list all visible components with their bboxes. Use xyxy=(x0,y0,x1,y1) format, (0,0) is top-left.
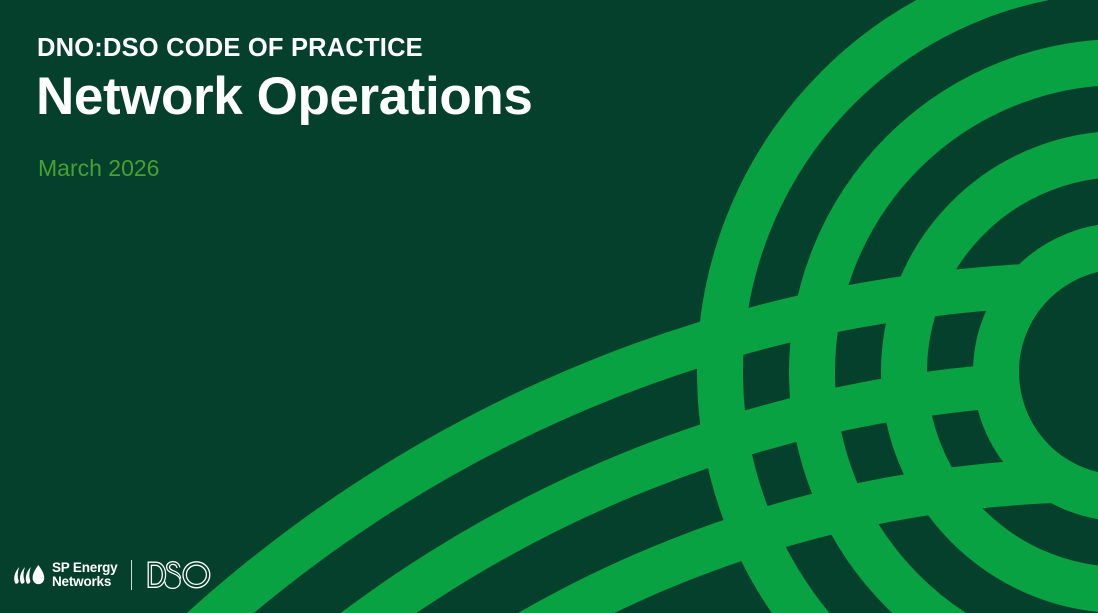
logo-divider xyxy=(131,560,132,590)
spen-wordmark-line-2: Networks xyxy=(52,575,117,589)
date-label: March 2026 xyxy=(38,155,159,183)
text-layer: DNO:DSO CODE OF PRACTICE Network Operati… xyxy=(0,0,1098,613)
dso-logo xyxy=(146,559,212,591)
sp-energy-networks-wordmark: SP Energy Networks xyxy=(52,561,117,589)
slide-canvas: DNO:DSO CODE OF PRACTICE Network Operati… xyxy=(0,0,1098,613)
spen-wordmark-line-1: SP Energy xyxy=(52,561,117,575)
page-title: Network Operations xyxy=(36,66,532,127)
sp-energy-networks-flame-icon xyxy=(12,562,46,588)
eyebrow-label: DNO:DSO CODE OF PRACTICE xyxy=(37,34,423,62)
sp-energy-networks-logo: SP Energy Networks xyxy=(12,561,117,589)
logo-lockup: SP Energy Networks xyxy=(12,557,212,593)
